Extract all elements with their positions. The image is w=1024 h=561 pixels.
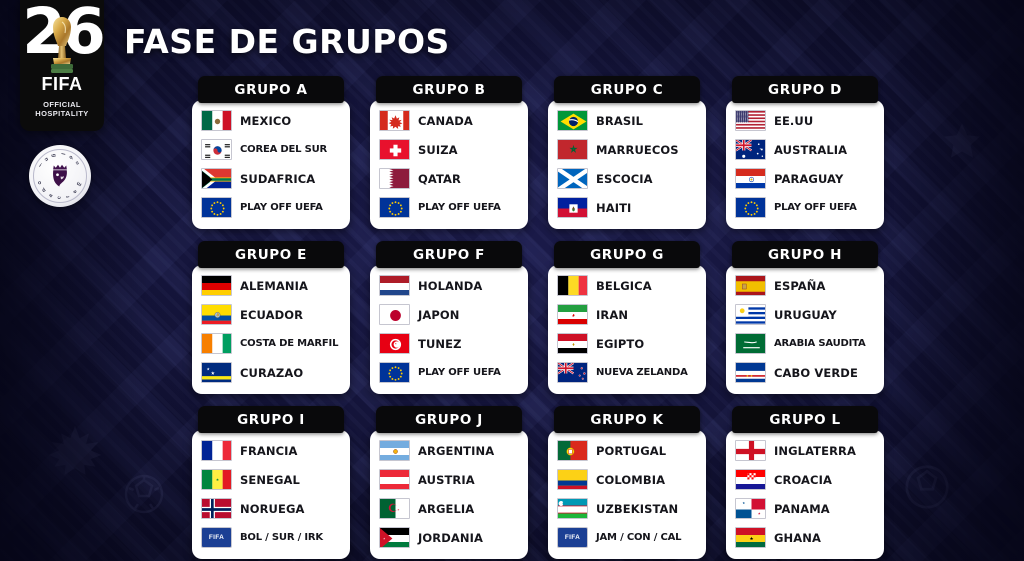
- group-card: GRUPO LINGLATERRACROACIAPANAMAGHANA: [726, 406, 884, 559]
- group-team-list: PORTUGALCOLOMBIAUZBEKISTANFIFAJAM / CON …: [548, 430, 706, 559]
- team-row[interactable]: JAPON: [370, 300, 528, 329]
- team-row[interactable]: ARGELIA: [370, 494, 528, 523]
- team-name: AUSTRALIA: [774, 143, 847, 157]
- team-name: IRAN: [596, 308, 628, 322]
- group-header: GRUPO D: [732, 76, 878, 103]
- logo-fifa-text: FIFA: [20, 74, 104, 95]
- flag-icon-canada: [379, 110, 410, 131]
- flag-icon-usa: [735, 110, 766, 131]
- team-row[interactable]: FRANCIA: [192, 436, 350, 465]
- group-card: GRUPO BCANADASUIZAQATARPLAY OFF UEFA: [370, 76, 528, 229]
- team-row[interactable]: EGIPTO: [548, 329, 706, 358]
- team-row[interactable]: IRAN: [548, 300, 706, 329]
- group-card: GRUPO GBELGICAIRANEGIPTONUEVA ZELANDA: [548, 241, 706, 394]
- flag-icon-new-zealand: [557, 362, 588, 383]
- team-name: CROACIA: [774, 473, 832, 487]
- flag-icon-egypt: [557, 333, 588, 354]
- group-team-list: ARGENTINAAUSTRIAARGELIAJORDANIA: [370, 430, 528, 559]
- flag-icon-argentina: [379, 440, 410, 461]
- team-name: ARGELIA: [418, 502, 474, 516]
- team-row[interactable]: ARABIA SAUDITA: [726, 329, 884, 358]
- fifa-badge-icon: FIFA: [201, 527, 232, 548]
- group-team-list: FRANCIASENEGALNORUEGAFIFABOL / SUR / IRK: [192, 430, 350, 559]
- flag-icon-australia: [735, 139, 766, 160]
- team-row[interactable]: NUEVA ZELANDA: [548, 358, 706, 387]
- team-name: SUIZA: [418, 143, 458, 157]
- team-row[interactable]: CABO VERDE: [726, 358, 884, 387]
- flag-icon-mexico: [201, 110, 232, 131]
- team-row[interactable]: MEXICO: [192, 106, 350, 135]
- flag-icon-saudi-arabia: [735, 333, 766, 354]
- group-header: GRUPO L: [732, 406, 878, 433]
- group-header: GRUPO B: [376, 76, 522, 103]
- logo-subtitle-line2: HOSPITALITY: [20, 109, 104, 118]
- group-card: GRUPO EALEMANIAECUADORCOSTA DE MARFILCUR…: [192, 241, 350, 394]
- team-name: EGIPTO: [596, 337, 644, 351]
- team-row[interactable]: ESCOCIA: [548, 164, 706, 193]
- group-header: GRUPO I: [198, 406, 344, 433]
- team-name: AUSTRIA: [418, 473, 475, 487]
- flag-icon-japan: [379, 304, 410, 325]
- group-header: GRUPO E: [198, 241, 344, 268]
- team-name: BOL / SUR / IRK: [240, 532, 323, 543]
- flag-icon-tunisia: [379, 333, 410, 354]
- team-name: ARGENTINA: [418, 444, 494, 458]
- fifa-26-hospitality-logo: 26: [20, 0, 104, 131]
- team-name: ESPAÑA: [774, 279, 826, 293]
- team-name: JAM / CON / CAL: [596, 532, 681, 543]
- group-team-list: INGLATERRACROACIAPANAMAGHANA: [726, 430, 884, 559]
- logo-subtitle-line1: OFFICIAL: [20, 100, 104, 109]
- team-row[interactable]: NORUEGA: [192, 494, 350, 523]
- flag-icon-spain: [735, 275, 766, 296]
- team-name: COSTA DE MARFIL: [240, 338, 338, 349]
- team-name: CANADA: [418, 114, 473, 128]
- team-row[interactable]: CANADA: [370, 106, 528, 135]
- team-name: ESCOCIA: [596, 172, 653, 186]
- group-header: GRUPO C: [554, 76, 700, 103]
- team-row[interactable]: COREA DEL SUR: [192, 135, 350, 164]
- group-header: GRUPO G: [554, 241, 700, 268]
- group-team-list: BRASILMARRUECOSESCOCIAHAITI: [548, 100, 706, 229]
- flag-icon-belgium: [557, 275, 588, 296]
- team-row[interactable]: PLAY OFF UEFA: [370, 193, 528, 222]
- team-name: COREA DEL SUR: [240, 144, 327, 155]
- team-name: PORTUGAL: [596, 444, 666, 458]
- team-row[interactable]: SENEGAL: [192, 465, 350, 494]
- group-card: GRUPO DEE.UUAUSTRALIAPARAGUAYPLAY OFF UE…: [726, 76, 884, 229]
- team-name: PLAY OFF UEFA: [418, 367, 501, 378]
- team-row[interactable]: CROACIA: [726, 465, 884, 494]
- team-row[interactable]: QATAR: [370, 164, 528, 193]
- group-header: GRUPO F: [376, 241, 522, 268]
- team-name: MEXICO: [240, 114, 291, 128]
- flag-icon-scotland: [557, 168, 588, 189]
- team-name: HAITI: [596, 201, 631, 215]
- flag-icon-austria: [379, 469, 410, 490]
- flag-icon-uefa: [379, 197, 410, 218]
- team-name: PANAMA: [774, 502, 830, 516]
- team-name: PLAY OFF UEFA: [418, 202, 501, 213]
- flag-icon-portugal: [557, 440, 588, 461]
- sponsor-badge-mercado-ingles: mercado inglés: [29, 145, 91, 207]
- team-row[interactable]: PLAY OFF UEFA: [370, 358, 528, 387]
- team-row[interactable]: AUSTRALIA: [726, 135, 884, 164]
- team-name: INGLATERRA: [774, 444, 856, 458]
- group-card: GRUPO FHOLANDAJAPONTUNEZPLAY OFF UEFA: [370, 241, 528, 394]
- team-row[interactable]: COSTA DE MARFIL: [192, 329, 350, 358]
- team-name: COLOMBIA: [596, 473, 665, 487]
- team-row[interactable]: JORDANIA: [370, 523, 528, 552]
- team-row[interactable]: AUSTRIA: [370, 465, 528, 494]
- flag-icon-morocco: [557, 139, 588, 160]
- flag-icon-ghana: [735, 527, 766, 548]
- flag-icon-south-africa: [201, 168, 232, 189]
- group-card: GRUPO KPORTUGALCOLOMBIAUZBEKISTANFIFAJAM…: [548, 406, 706, 559]
- group-team-list: ESPAÑAURUGUAYARABIA SAUDITACABO VERDE: [726, 265, 884, 394]
- flag-icon-uefa: [379, 362, 410, 383]
- flag-icon-jordan: [379, 527, 410, 548]
- team-name: FRANCIA: [240, 444, 298, 458]
- team-name: GHANA: [774, 531, 821, 545]
- team-name: HOLANDA: [418, 279, 482, 293]
- team-name: JORDANIA: [418, 531, 483, 545]
- team-row[interactable]: EE.UU: [726, 106, 884, 135]
- flag-icon-ivory-coast: [201, 333, 232, 354]
- group-team-list: HOLANDAJAPONTUNEZPLAY OFF UEFA: [370, 265, 528, 394]
- team-row[interactable]: ECUADOR: [192, 300, 350, 329]
- team-row[interactable]: BELGICA: [548, 271, 706, 300]
- team-row[interactable]: ARGENTINA: [370, 436, 528, 465]
- flag-icon-colombia: [557, 469, 588, 490]
- team-name: ARABIA SAUDITA: [774, 338, 866, 349]
- flag-icon-germany: [201, 275, 232, 296]
- flag-icon-switzerland: [379, 139, 410, 160]
- team-row[interactable]: SUIZA: [370, 135, 528, 164]
- sponsor-badge-label: mercado inglés: [29, 145, 91, 207]
- team-row[interactable]: INGLATERRA: [726, 436, 884, 465]
- team-name: CABO VERDE: [774, 366, 858, 380]
- team-row[interactable]: FIFAJAM / CON / CAL: [548, 523, 706, 552]
- group-card: GRUPO HESPAÑAURUGUAYARABIA SAUDITACABO V…: [726, 241, 884, 394]
- team-row[interactable]: SUDAFRICA: [192, 164, 350, 193]
- fifa-badge-icon: FIFA: [557, 527, 588, 548]
- flag-icon-panama: [735, 498, 766, 519]
- team-row[interactable]: HAITI: [548, 193, 706, 222]
- flag-icon-uruguay: [735, 304, 766, 325]
- team-name: PLAY OFF UEFA: [240, 202, 323, 213]
- team-row[interactable]: MARRUECOS: [548, 135, 706, 164]
- team-name: URUGUAY: [774, 308, 837, 322]
- team-row[interactable]: PLAY OFF UEFA: [726, 193, 884, 222]
- team-name: ECUADOR: [240, 308, 303, 322]
- team-name: EE.UU: [774, 114, 813, 128]
- team-name: UZBEKISTAN: [596, 502, 678, 516]
- flag-icon-england: [735, 440, 766, 461]
- team-name: BRASIL: [596, 114, 643, 128]
- flag-icon-croatia: [735, 469, 766, 490]
- group-header: GRUPO K: [554, 406, 700, 433]
- group-card: GRUPO JARGENTINAAUSTRIAARGELIAJORDANIA: [370, 406, 528, 559]
- flag-icon-uefa: [201, 197, 232, 218]
- flag-icon-brazil: [557, 110, 588, 131]
- logo-subtitle: OFFICIAL HOSPITALITY: [20, 100, 104, 119]
- team-row[interactable]: PARAGUAY: [726, 164, 884, 193]
- team-name: SENEGAL: [240, 473, 300, 487]
- flag-icon-uzbekistan: [557, 498, 588, 519]
- flag-icon-curacao: [201, 362, 232, 383]
- team-row[interactable]: UZBEKISTAN: [548, 494, 706, 523]
- group-card: GRUPO AMEXICOCOREA DEL SURSUDAFRICAPLAY …: [192, 76, 350, 229]
- brand-column: 26: [16, 0, 111, 207]
- team-name: PLAY OFF UEFA: [774, 202, 857, 213]
- team-row[interactable]: CURAZAO: [192, 358, 350, 387]
- flag-icon-senegal: [201, 469, 232, 490]
- flag-icon-algeria: [379, 498, 410, 519]
- team-name: NUEVA ZELANDA: [596, 367, 688, 378]
- group-team-list: CANADASUIZAQATARPLAY OFF UEFA: [370, 100, 528, 229]
- flag-icon-uefa: [735, 197, 766, 218]
- team-name: PARAGUAY: [774, 172, 843, 186]
- flag-icon-south-korea: [201, 139, 232, 160]
- group-team-list: BELGICAIRANEGIPTONUEVA ZELANDA: [548, 265, 706, 394]
- flag-icon-cape-verde: [735, 362, 766, 383]
- groups-grid: GRUPO AMEXICOCOREA DEL SURSUDAFRICAPLAY …: [192, 76, 908, 559]
- flag-icon-haiti: [557, 197, 588, 218]
- flag-icon-qatar: [379, 168, 410, 189]
- team-name: MARRUECOS: [596, 143, 679, 157]
- team-row[interactable]: HOLANDA: [370, 271, 528, 300]
- team-row[interactable]: COLOMBIA: [548, 465, 706, 494]
- team-row[interactable]: BRASIL: [548, 106, 706, 135]
- group-header: GRUPO J: [376, 406, 522, 433]
- team-name: BELGICA: [596, 279, 652, 293]
- team-name: QATAR: [418, 172, 461, 186]
- team-name: JAPON: [418, 308, 460, 322]
- group-team-list: ALEMANIAECUADORCOSTA DE MARFILCURAZAO: [192, 265, 350, 394]
- team-name: CURAZAO: [240, 366, 303, 380]
- team-row[interactable]: FIFABOL / SUR / IRK: [192, 523, 350, 552]
- team-row[interactable]: ESPAÑA: [726, 271, 884, 300]
- team-row[interactable]: PANAMA: [726, 494, 884, 523]
- group-team-list: EE.UUAUSTRALIAPARAGUAYPLAY OFF UEFA: [726, 100, 884, 229]
- team-name: SUDAFRICA: [240, 172, 315, 186]
- team-row[interactable]: URUGUAY: [726, 300, 884, 329]
- flag-icon-netherlands: [379, 275, 410, 296]
- team-row[interactable]: GHANA: [726, 523, 884, 552]
- flag-icon-iran: [557, 304, 588, 325]
- flag-icon-norway: [201, 498, 232, 519]
- team-row[interactable]: TUNEZ: [370, 329, 528, 358]
- flag-icon-paraguay: [735, 168, 766, 189]
- flag-icon-ecuador: [201, 304, 232, 325]
- team-row[interactable]: PLAY OFF UEFA: [192, 193, 350, 222]
- group-header: GRUPO A: [198, 76, 344, 103]
- flag-icon-france: [201, 440, 232, 461]
- group-team-list: MEXICOCOREA DEL SURSUDAFRICAPLAY OFF UEF…: [192, 100, 350, 229]
- team-row[interactable]: PORTUGAL: [548, 436, 706, 465]
- team-row[interactable]: ALEMANIA: [192, 271, 350, 300]
- team-name: NORUEGA: [240, 502, 305, 516]
- group-card: GRUPO CBRASILMARRUECOSESCOCIAHAITI: [548, 76, 706, 229]
- group-header: GRUPO H: [732, 241, 878, 268]
- team-name: ALEMANIA: [240, 279, 308, 293]
- group-card: GRUPO IFRANCIASENEGALNORUEGAFIFABOL / SU…: [192, 406, 350, 559]
- team-name: TUNEZ: [418, 337, 462, 351]
- page-title: FASE DE GRUPOS: [124, 22, 450, 61]
